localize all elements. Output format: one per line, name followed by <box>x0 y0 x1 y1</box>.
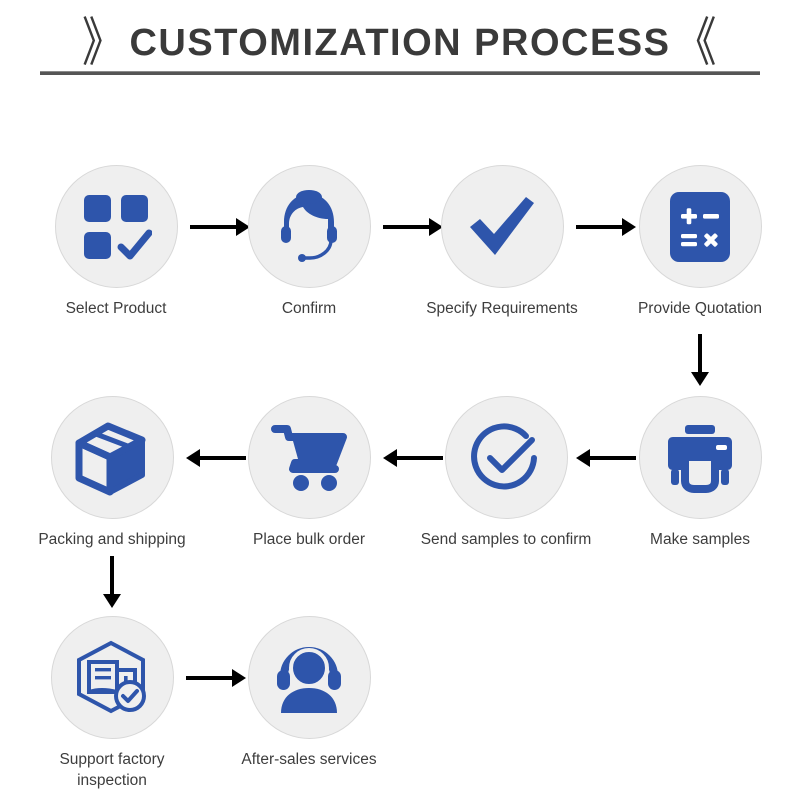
arrow-7-to-8 <box>186 449 246 467</box>
step-icon-circle <box>248 616 371 739</box>
step-after-sales-services[interactable]: After-sales services <box>229 616 389 771</box>
page-header: 》CUSTOMIZATION PROCESS《 <box>0 10 800 80</box>
step-icon-circle <box>248 396 371 519</box>
step-icon-circle <box>441 165 564 288</box>
step-send-samples-to-confirm[interactable]: Send samples to confirm <box>426 396 586 551</box>
step-make-samples[interactable]: Make samples <box>620 396 780 551</box>
calculator-icon <box>668 190 732 264</box>
step-label: Specify Requirements <box>426 299 578 320</box>
arrow-shaft <box>186 676 232 680</box>
step-icon-circle <box>51 396 174 519</box>
step-specify-requirements[interactable]: Specify Requirements <box>422 165 582 320</box>
step-select-product[interactable]: Select Product <box>36 165 196 320</box>
step-packing-and-shipping[interactable]: Packing and shipping <box>32 396 192 551</box>
page-title-text: CUSTOMIZATION PROCESS <box>129 22 670 64</box>
factory-inspection-shield-icon <box>73 640 151 716</box>
step-place-bulk-order[interactable]: Place bulk order <box>229 396 389 551</box>
step-provide-quotation[interactable]: Provide Quotation <box>620 165 780 320</box>
step-icon-circle <box>445 396 568 519</box>
arrow-4-to-5 <box>691 334 709 386</box>
circle-check-icon <box>468 420 544 496</box>
arrow-shaft <box>397 456 443 460</box>
step-label: Support factory inspection <box>37 750 187 792</box>
step-label: After-sales services <box>241 750 376 771</box>
arrow-6-to-7 <box>383 449 443 467</box>
chevron-left-icon: 》 <box>82 17 126 70</box>
customization-process-infographic: 》CUSTOMIZATION PROCESS《 Select Product <box>0 0 800 800</box>
checkmark-icon <box>464 189 540 265</box>
step-icon-circle <box>55 165 178 288</box>
arrow-shaft <box>590 456 636 460</box>
step-label: Provide Quotation <box>638 299 762 320</box>
step-label: Make samples <box>650 530 750 551</box>
page-title: 》CUSTOMIZATION PROCESS《 <box>82 24 718 66</box>
step-label: Select Product <box>66 299 167 320</box>
step-icon-circle <box>639 396 762 519</box>
arrow-8-to-9 <box>103 556 121 608</box>
arrow-head-down-icon <box>691 372 709 386</box>
headset-operator-icon <box>270 188 348 266</box>
arrow-shaft <box>698 334 702 372</box>
grid-check-icon <box>80 191 152 263</box>
step-label: Confirm <box>282 299 336 320</box>
printer-icon <box>663 423 737 493</box>
step-label: Send samples to confirm <box>421 530 592 551</box>
step-icon-circle <box>51 616 174 739</box>
headphones-person-icon <box>272 643 346 713</box>
arrow-head-down-icon <box>103 594 121 608</box>
arrow-shaft <box>576 225 622 229</box>
header-divider <box>40 71 760 75</box>
step-icon-circle <box>248 165 371 288</box>
arrow-shaft <box>200 456 246 460</box>
step-confirm[interactable]: Confirm <box>229 165 389 320</box>
shopping-cart-icon <box>271 423 347 493</box>
package-box-icon <box>74 420 150 496</box>
step-label: Place bulk order <box>253 530 365 551</box>
chevron-right-icon: 《 <box>675 17 719 70</box>
step-icon-circle <box>639 165 762 288</box>
step-support-factory-inspection[interactable]: Support factory inspection <box>32 616 192 792</box>
arrow-shaft <box>110 556 114 594</box>
step-label: Packing and shipping <box>38 530 185 551</box>
